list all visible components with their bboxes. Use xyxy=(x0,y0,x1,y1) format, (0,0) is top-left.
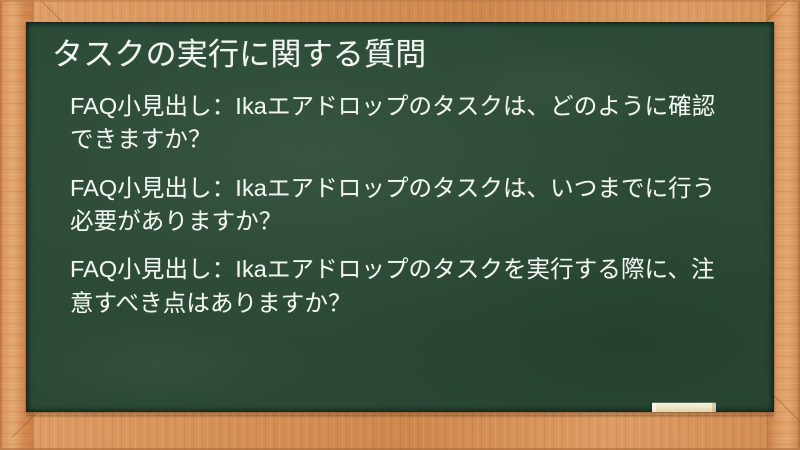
blackboard: タスクの実行に関する質問 FAQ小見出し：Ikaエアドロップのタスクは、どのよう… xyxy=(26,22,774,412)
faq-item: FAQ小見出し：Ikaエアドロップのタスクを実行する際に、注意すべき点はあります… xyxy=(70,253,732,320)
chalk-stick-left-end xyxy=(652,403,656,412)
page-title: タスクの実行に関する質問 xyxy=(52,36,754,74)
chalk-stick-right-end xyxy=(712,403,716,412)
faq-list: FAQ小見出し：Ikaエアドロップのタスクは、どのように確認できますか？ FAQ… xyxy=(48,90,754,320)
faq-item: FAQ小見出し：Ikaエアドロップのタスクは、どのように確認できますか？ xyxy=(70,90,732,157)
blackboard-content: タスクの実行に関する質問 FAQ小見出し：Ikaエアドロップのタスクは、どのよう… xyxy=(26,22,774,412)
slide-canvas: タスクの実行に関する質問 FAQ小見出し：Ikaエアドロップのタスクは、どのよう… xyxy=(0,0,800,450)
faq-item: FAQ小見出し：Ikaエアドロップのタスクは、いつまでに行う必要がありますか？ xyxy=(70,172,732,239)
chalk-stick-icon xyxy=(652,403,716,412)
